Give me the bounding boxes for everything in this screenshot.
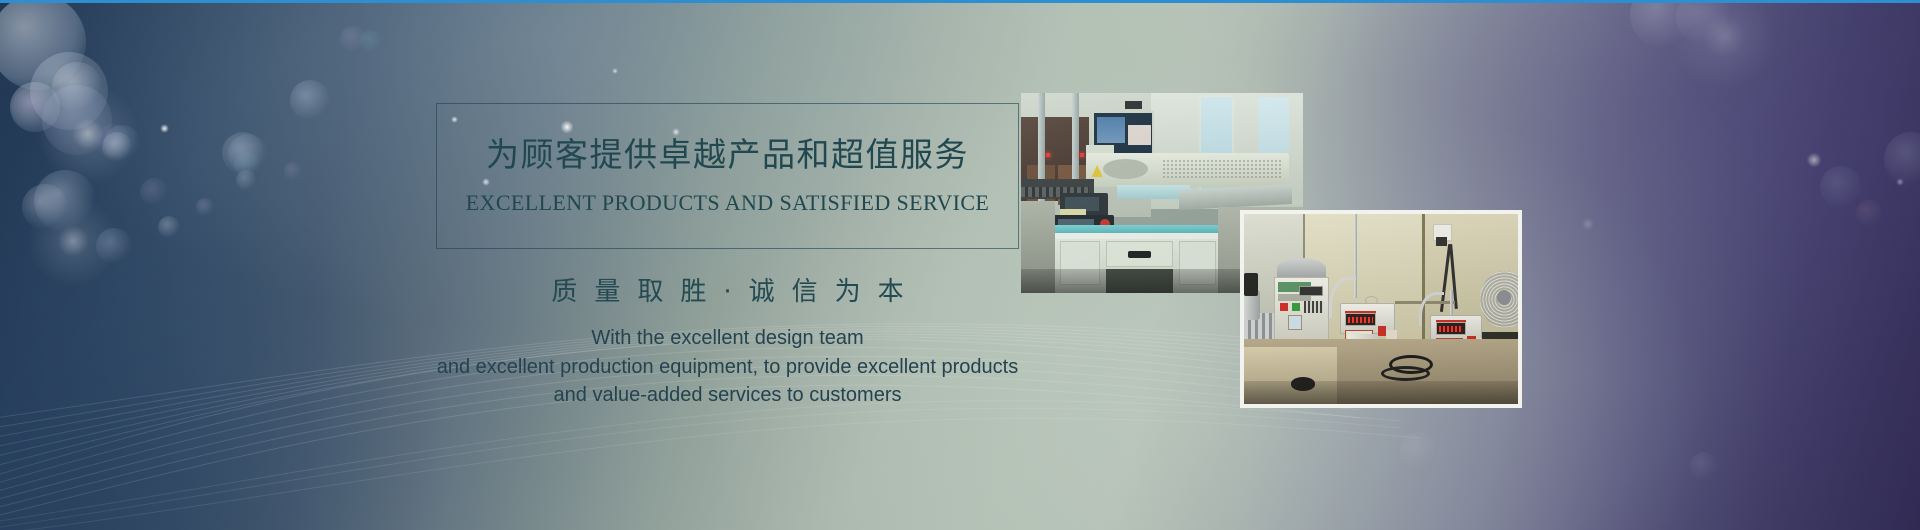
- description-line-2: and excellent production equipment, to p…: [336, 353, 1119, 382]
- promo-banner: 为顾客提供卓越产品和超值服务 EXCELLENT PRODUCTS AND SA…: [0, 0, 1920, 530]
- photo-press-machines[interactable]: [1240, 210, 1522, 408]
- banner-text-content: 为顾客提供卓越产品和超值服务 EXCELLENT PRODUCTS AND SA…: [0, 0, 1920, 530]
- description-line-3: and value-added services to customers: [336, 381, 1119, 410]
- description-paragraph: With the excellent design team and excel…: [336, 324, 1119, 410]
- photo-color-tint: [1244, 214, 1518, 404]
- headline-chinese: 为顾客提供卓越产品和超值服务: [436, 133, 1019, 177]
- photo-press-machines-scene: [1244, 214, 1518, 404]
- description-line-1: With the excellent design team: [336, 324, 1119, 353]
- motto-chinese: 质量取胜·诚信为本: [436, 275, 1019, 309]
- top-accent-bar: [0, 0, 1920, 3]
- headline-english: EXCELLENT PRODUCTS AND SATISFIED SERVICE: [436, 189, 1019, 217]
